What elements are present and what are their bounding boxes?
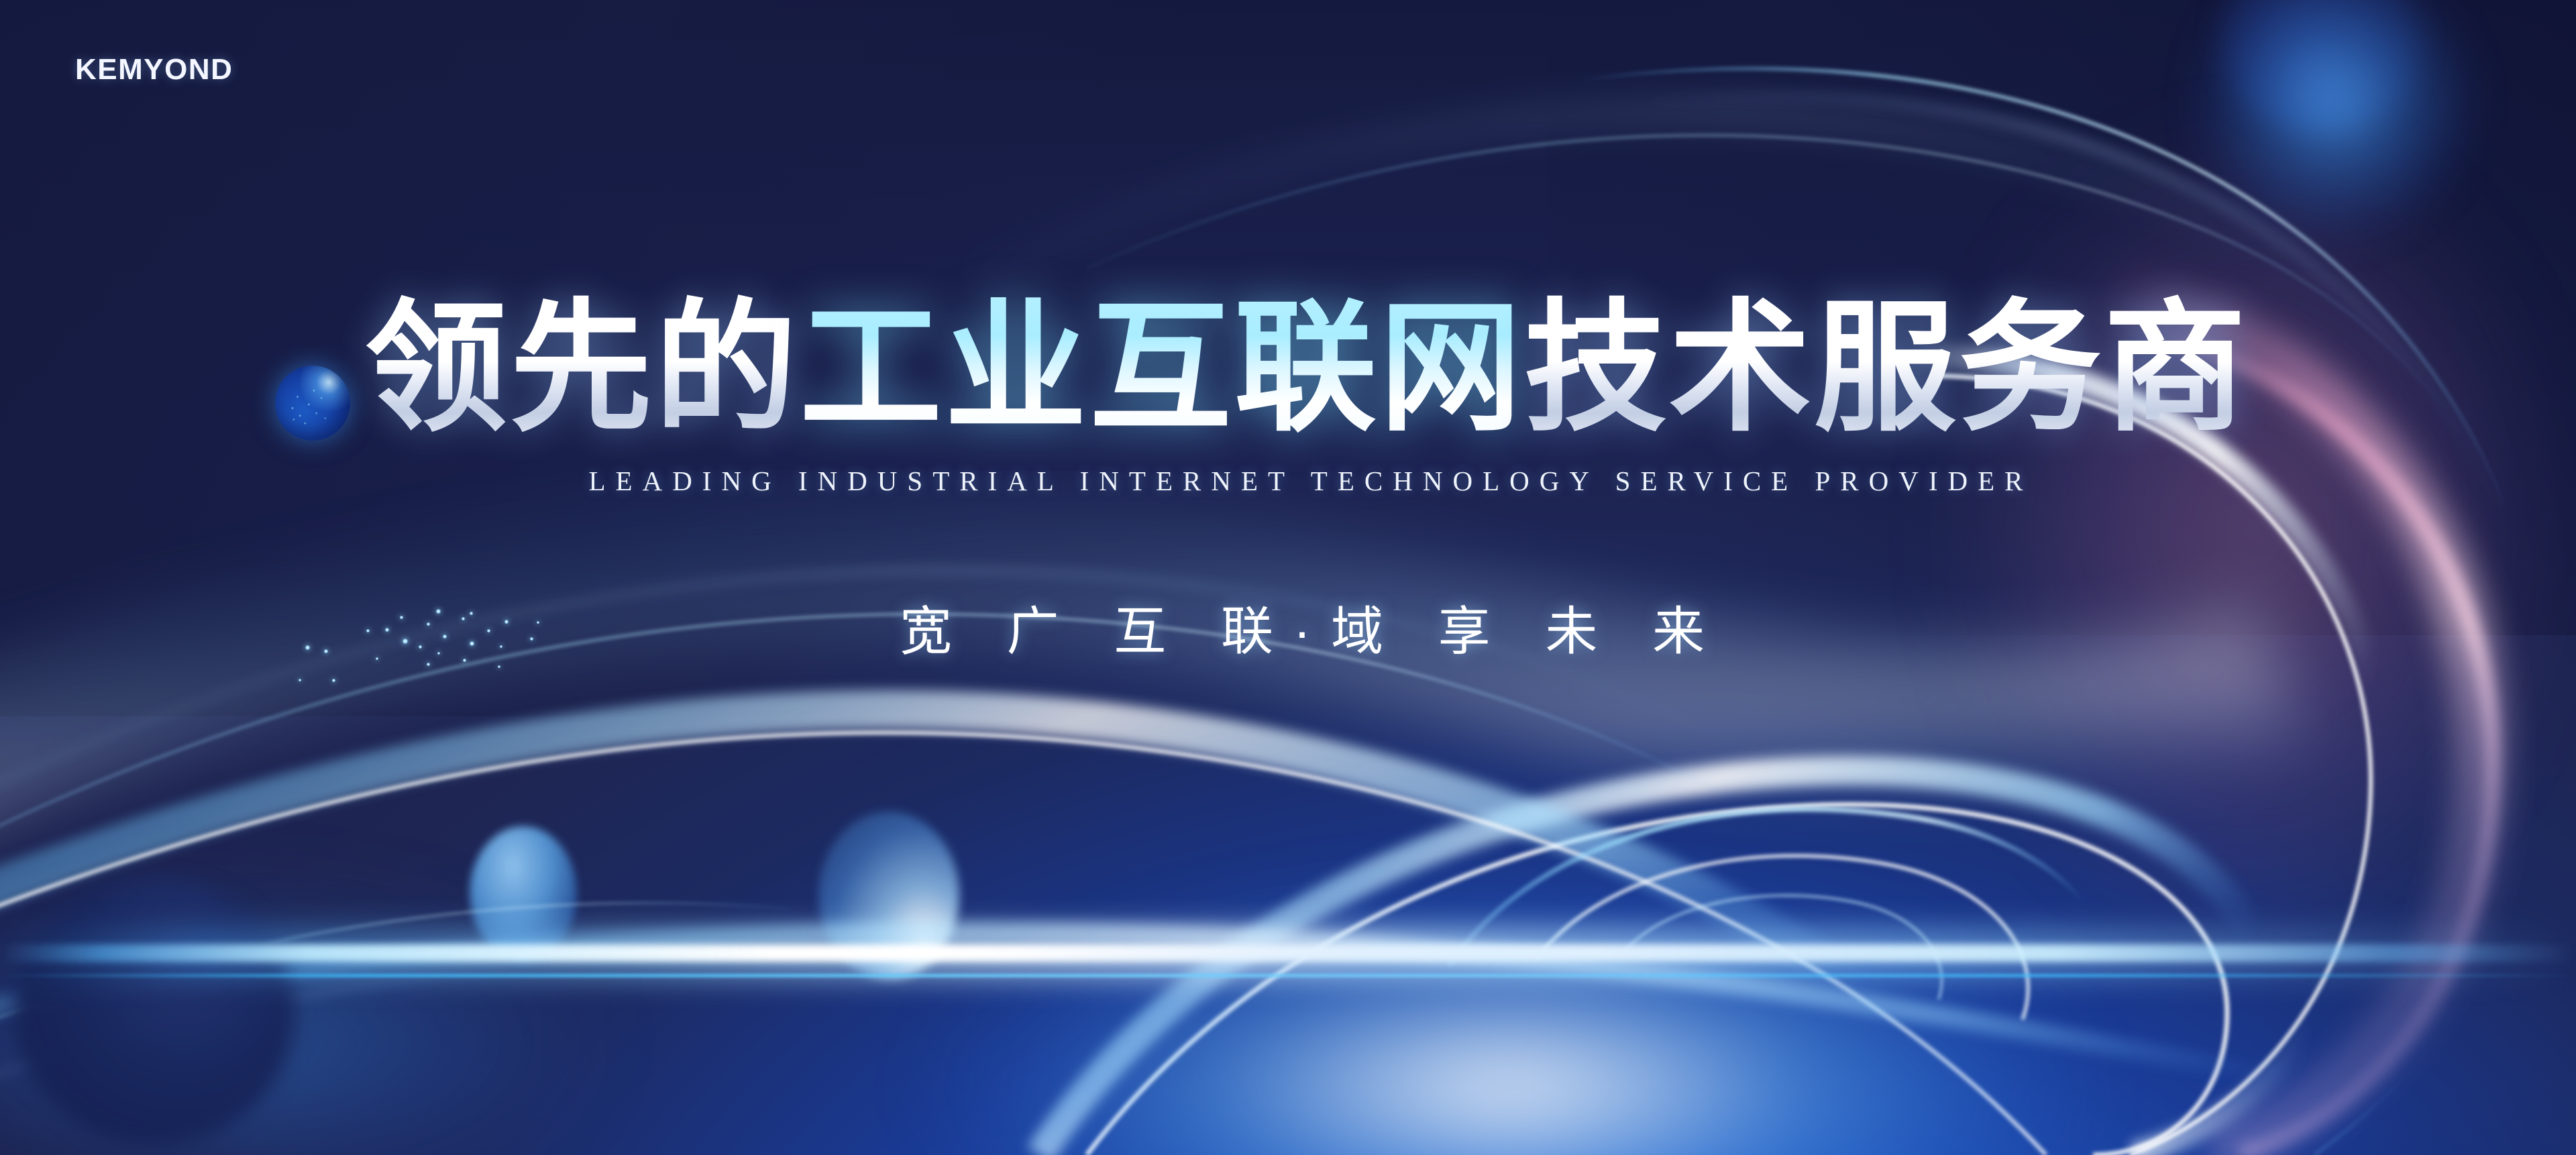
headline-segment-1: 领先的 bbox=[365, 288, 800, 447]
headline-segment-2: 工业互联网 bbox=[800, 288, 1524, 447]
tagline-right: 域 享 未 来 bbox=[1331, 602, 1725, 661]
page-title: 领先的工业互联网技术服务商 bbox=[19, 288, 2576, 447]
hero-content: 领先的工业互联网技术服务商 LEADING INDUSTRIAL INTERNE… bbox=[0, 288, 2576, 665]
hero-banner: KEMYOND 领先的工业互联网技术服务商 LEADING INDUSTRIAL… bbox=[0, 0, 2576, 1155]
tagline-separator: · bbox=[1293, 602, 1331, 661]
subtitle-english: LEADING INDUSTRIAL INTERNET TECHNOLOGY S… bbox=[23, 465, 2576, 497]
headline-segment-3: 技术服务商 bbox=[1524, 288, 2249, 447]
tagline: 宽 广 互 联·域 享 未 来 bbox=[24, 590, 2576, 665]
tagline-left: 宽 广 互 联 bbox=[900, 602, 1293, 661]
brand-logo[interactable]: KEMYOND bbox=[75, 55, 233, 85]
